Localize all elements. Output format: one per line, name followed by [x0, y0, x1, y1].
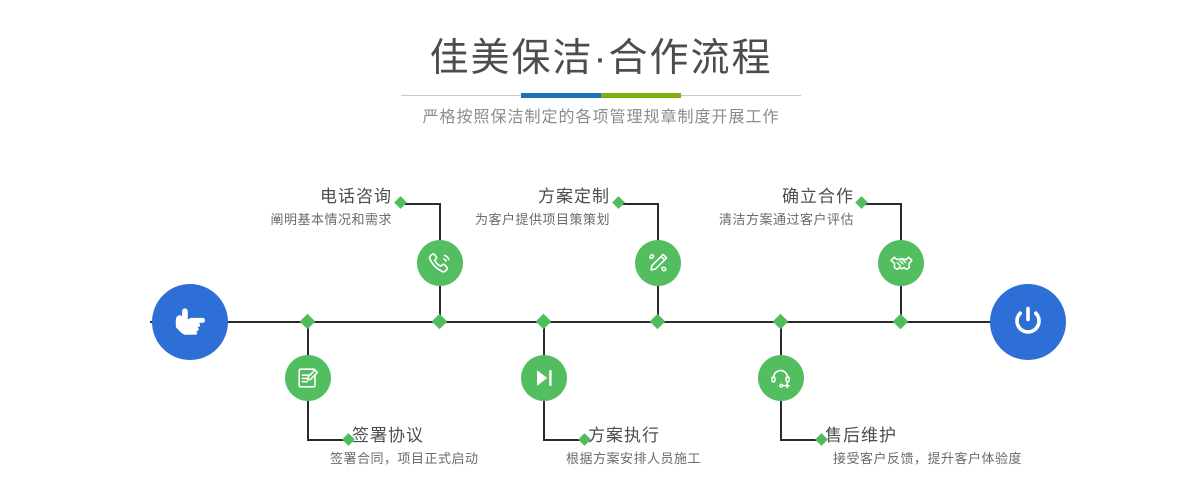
step-node-5[interactable] — [878, 240, 924, 286]
handshake-icon — [888, 250, 915, 277]
step-label-5: 确立合作 清洁方案通过客户评估 — [592, 186, 854, 230]
process-timeline: 电话咨询 阐明基本情况和需求 签署协议 签署合同，项目正式启动 — [0, 0, 1202, 502]
label-marker-5 — [855, 196, 868, 209]
timeline-marker-6 — [773, 314, 789, 330]
timeline-axis — [150, 321, 1052, 323]
customer-service-add-icon — [768, 365, 794, 391]
step-title-5: 确立合作 — [592, 186, 854, 208]
document-edit-icon — [295, 365, 321, 391]
step-title-3: 方案定制 — [348, 186, 610, 208]
step-desc-6: 接受客户反馈，提升客户体验度 — [833, 449, 1155, 469]
step-node-6[interactable] — [758, 355, 804, 401]
step-label-6: 售后维护 接受客户反馈，提升客户体验度 — [825, 425, 1155, 469]
step-title-6: 售后维护 — [825, 425, 1155, 447]
pointing-hand-icon — [170, 302, 210, 342]
step-node-1[interactable] — [417, 240, 463, 286]
step-desc-5: 清洁方案通过客户评估 — [592, 210, 854, 230]
step-desc-3: 为客户提供项目策策划 — [348, 210, 610, 230]
step-label-3: 方案定制 为客户提供项目策策划 — [348, 186, 610, 230]
pencil-plan-icon — [645, 250, 671, 276]
play-execute-icon — [531, 365, 557, 391]
step-node-2[interactable] — [285, 355, 331, 401]
timeline-marker-5 — [893, 314, 909, 330]
timeline-marker-1 — [432, 314, 448, 330]
timeline-marker-3 — [650, 314, 666, 330]
power-icon — [1007, 301, 1049, 343]
step-node-3[interactable] — [635, 240, 681, 286]
timeline-start-node[interactable] — [152, 284, 228, 360]
step-node-4[interactable] — [521, 355, 567, 401]
phone-call-icon — [427, 250, 454, 277]
timeline-marker-4 — [536, 314, 552, 330]
timeline-marker-2 — [300, 314, 316, 330]
timeline-end-node[interactable] — [990, 284, 1066, 360]
